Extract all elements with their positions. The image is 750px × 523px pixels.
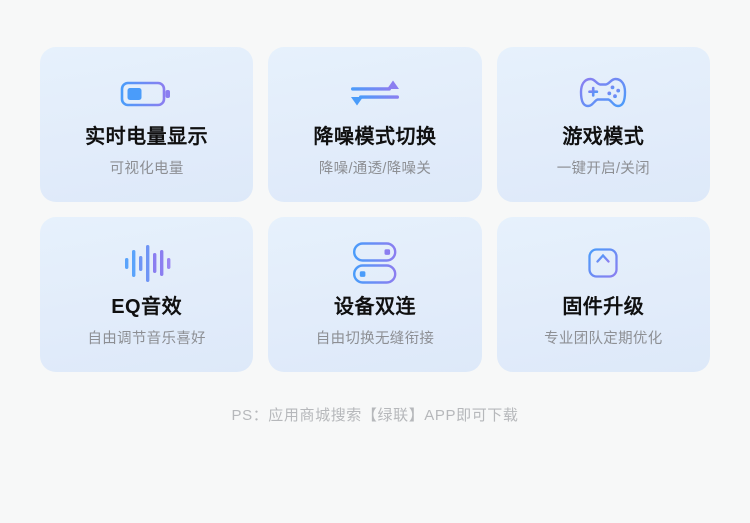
chip-upgrade-icon <box>579 239 627 287</box>
card-subtitle: 自由切换无缝衔接 <box>316 327 434 348</box>
card-title: 固件升级 <box>562 295 644 320</box>
dual-toggle-icon <box>351 239 399 287</box>
feature-card-eq[interactable]: EQ音效 自由调节音乐喜好 <box>40 217 253 372</box>
card-subtitle: 降噪/通透/降噪关 <box>319 157 431 178</box>
card-title: 降噪模式切换 <box>313 125 436 150</box>
card-title: 实时电量显示 <box>85 125 208 150</box>
feature-grid-page: 实时电量显示 可视化电量 <box>0 0 750 523</box>
card-subtitle: 专业团队定期优化 <box>544 327 662 348</box>
feature-card-dual-connection[interactable]: 设备双连 自由切换无缝衔接 <box>268 217 481 372</box>
feature-card-firmware-upgrade[interactable]: 固件升级 专业团队定期优化 <box>497 217 710 372</box>
battery-level-icon <box>119 69 175 117</box>
feature-card-noise-mode[interactable]: 降噪模式切换 降噪/通透/降噪关 <box>268 47 481 202</box>
footer-note: PS：应用商城搜索【绿联】APP即可下载 <box>40 404 710 425</box>
feature-card-game-mode[interactable]: 游戏模式 一键开启/关闭 <box>497 47 710 202</box>
feature-card-battery[interactable]: 实时电量显示 可视化电量 <box>40 47 253 202</box>
card-title: 设备双连 <box>334 295 416 320</box>
equalizer-waveform-icon <box>122 239 172 287</box>
card-title: EQ音效 <box>111 295 182 320</box>
gamepad-icon <box>577 69 629 117</box>
card-subtitle: 一键开启/关闭 <box>557 157 650 178</box>
card-title: 游戏模式 <box>562 125 644 150</box>
noise-mode-switch-icon <box>347 69 403 117</box>
feature-card-grid: 实时电量显示 可视化电量 <box>40 47 710 372</box>
card-subtitle: 可视化电量 <box>110 157 184 178</box>
card-subtitle: 自由调节音乐喜好 <box>87 327 205 348</box>
